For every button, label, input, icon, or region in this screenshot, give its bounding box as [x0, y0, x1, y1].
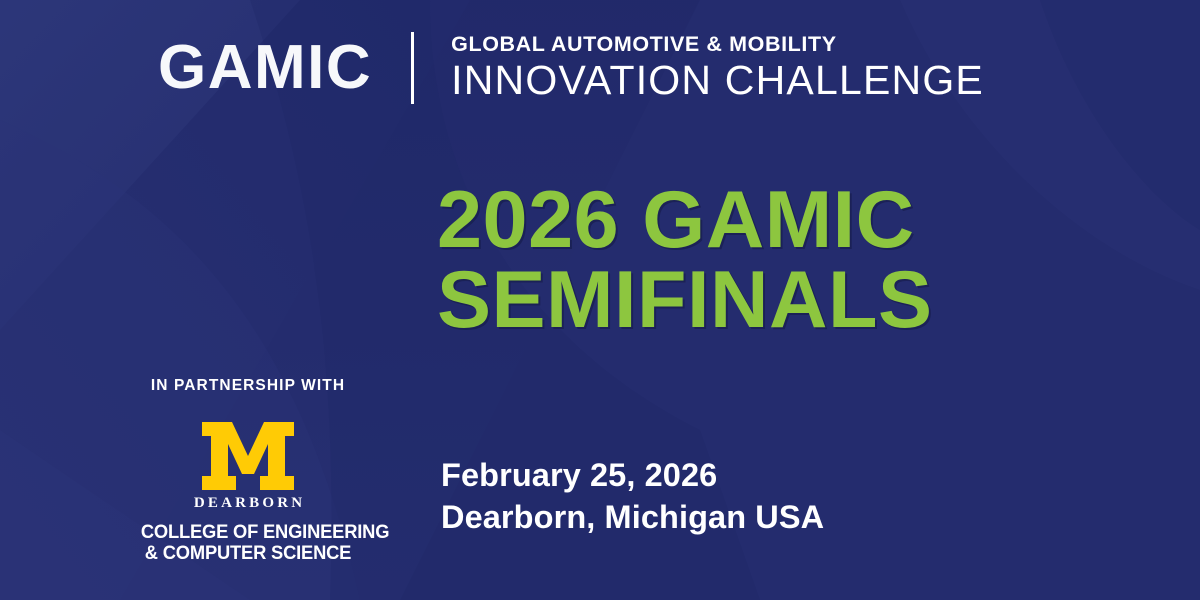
tagline-top: GLOBAL AUTOMOTIVE & MOBILITY [451, 33, 984, 56]
event-date: February 25, 2026 [441, 455, 824, 497]
vertical-divider-icon [411, 32, 414, 104]
campus-name: DEARBORN [191, 496, 306, 511]
um-dearborn-logo: DEARBORN [134, 420, 362, 511]
event-banner: GAMIC GLOBAL AUTOMOTIVE & MOBILITY INNOV… [0, 0, 1200, 600]
brand-header: GAMIC GLOBAL AUTOMOTIVE & MOBILITY INNOV… [158, 28, 984, 108]
tagline-bottom: INNOVATION CHALLENGE [451, 58, 984, 103]
event-details: February 25, 2026 Dearborn, Michigan USA [441, 455, 824, 538]
brand-tagline: GLOBAL AUTOMOTIVE & MOBILITY INNOVATION … [451, 33, 984, 103]
headline-line-2: SEMIFINALS [437, 260, 933, 340]
partnership-label: IN PARTNERSHIP WITH [134, 378, 362, 394]
college-name-line-1: COLLEGE OF ENGINEERING [141, 522, 355, 544]
college-name: COLLEGE OF ENGINEERING & COMPUTER SCIENC… [141, 522, 355, 566]
event-location: Dearborn, Michigan USA [441, 497, 824, 539]
headline-line-1: 2026 GAMIC [437, 180, 933, 260]
partnership-block: IN PARTNERSHIP WITH DEARBORN COLLEGE OF … [134, 378, 362, 565]
event-headline: 2026 GAMIC SEMIFINALS [437, 180, 933, 340]
college-name-line-2: & COMPUTER SCIENCE [141, 543, 355, 565]
block-m-icon [200, 420, 296, 492]
gamic-wordmark: GAMIC [158, 37, 372, 99]
